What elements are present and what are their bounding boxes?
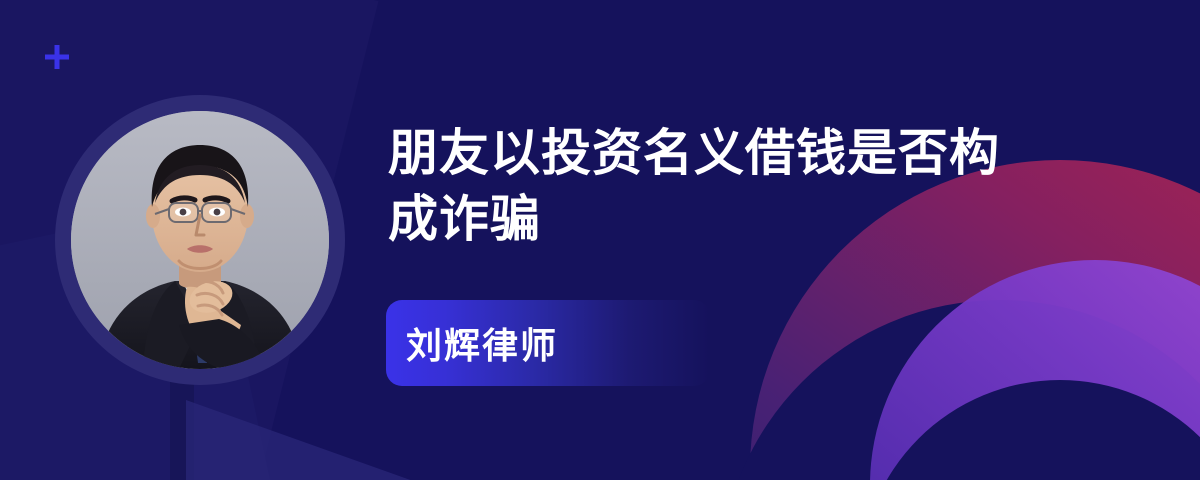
content-column: 朋友以投资名义借钱是否构成诈骗: [388, 120, 1088, 252]
avatar: [71, 111, 329, 369]
page-title: 朋友以投资名义借钱是否构成诈骗: [388, 120, 1048, 252]
decorative-arc-outer-mask: [720, 300, 1200, 480]
lawyer-promo-banner: 朋友以投资名义借钱是否构成诈骗 刘辉律师: [0, 0, 1200, 480]
avatar-ring: [55, 95, 345, 385]
decorative-arc-inner: [870, 260, 1200, 480]
decorative-arc-inner-mask: [860, 380, 1200, 480]
lawyer-name-button[interactable]: 刘辉律师: [386, 300, 710, 386]
plus-icon: [45, 45, 69, 69]
decorative-triangle: [186, 400, 416, 480]
